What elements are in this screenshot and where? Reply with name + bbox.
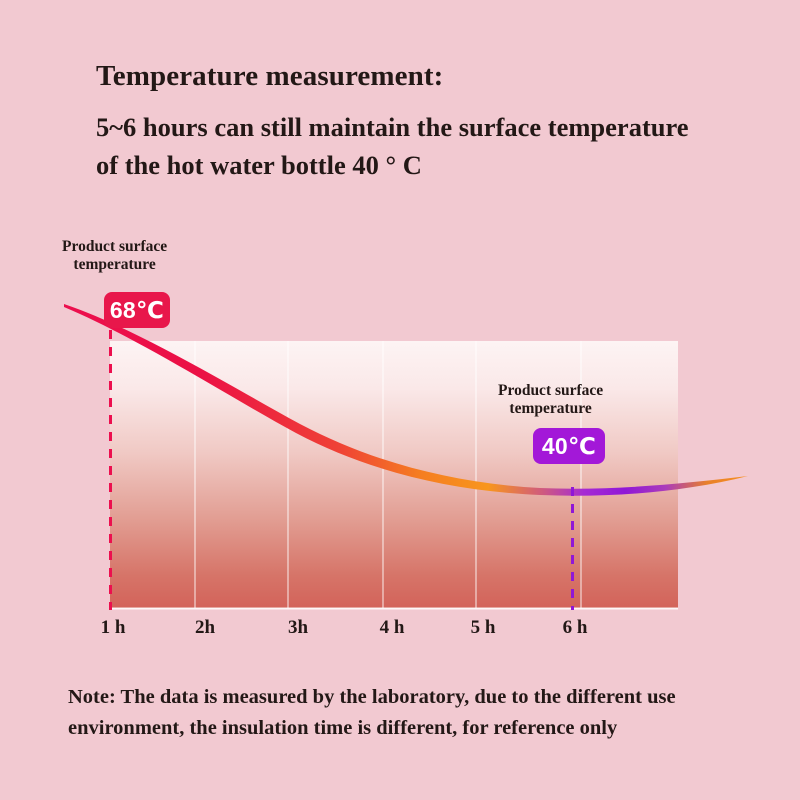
x-tick-label: 1 h xyxy=(101,617,126,639)
page-title: Temperature measurement: xyxy=(96,58,756,95)
callout-end-label-line1: Product surface xyxy=(498,382,603,400)
marker-lines xyxy=(111,330,573,610)
callout-start-label-line2: temperature xyxy=(62,256,167,274)
badge-end-temperature: 40℃ xyxy=(533,428,605,464)
badge-start-temperature: 68℃ xyxy=(104,292,170,328)
x-tick-label: 6 h xyxy=(563,617,588,639)
x-tick-label: 3h xyxy=(288,617,308,639)
x-tick-label: 2h xyxy=(195,617,215,639)
page-subtitle: 5~6 hours can still maintain the surface… xyxy=(96,109,696,184)
infographic-root: Temperature measurement: 5~6 hours can s… xyxy=(0,0,800,800)
footnote: Note: The data is measured by the labora… xyxy=(68,682,748,744)
x-tick-label: 5 h xyxy=(471,617,496,639)
heading-block: Temperature measurement: 5~6 hours can s… xyxy=(96,58,756,184)
callout-end-label-line2: temperature xyxy=(498,400,603,418)
temperature-curve xyxy=(64,304,748,496)
callout-start-label: Product surface temperature xyxy=(62,238,167,275)
callout-end-label: Product surface temperature xyxy=(498,382,603,419)
callout-start-label-line1: Product surface xyxy=(62,238,167,256)
x-tick-label: 4 h xyxy=(380,617,405,639)
